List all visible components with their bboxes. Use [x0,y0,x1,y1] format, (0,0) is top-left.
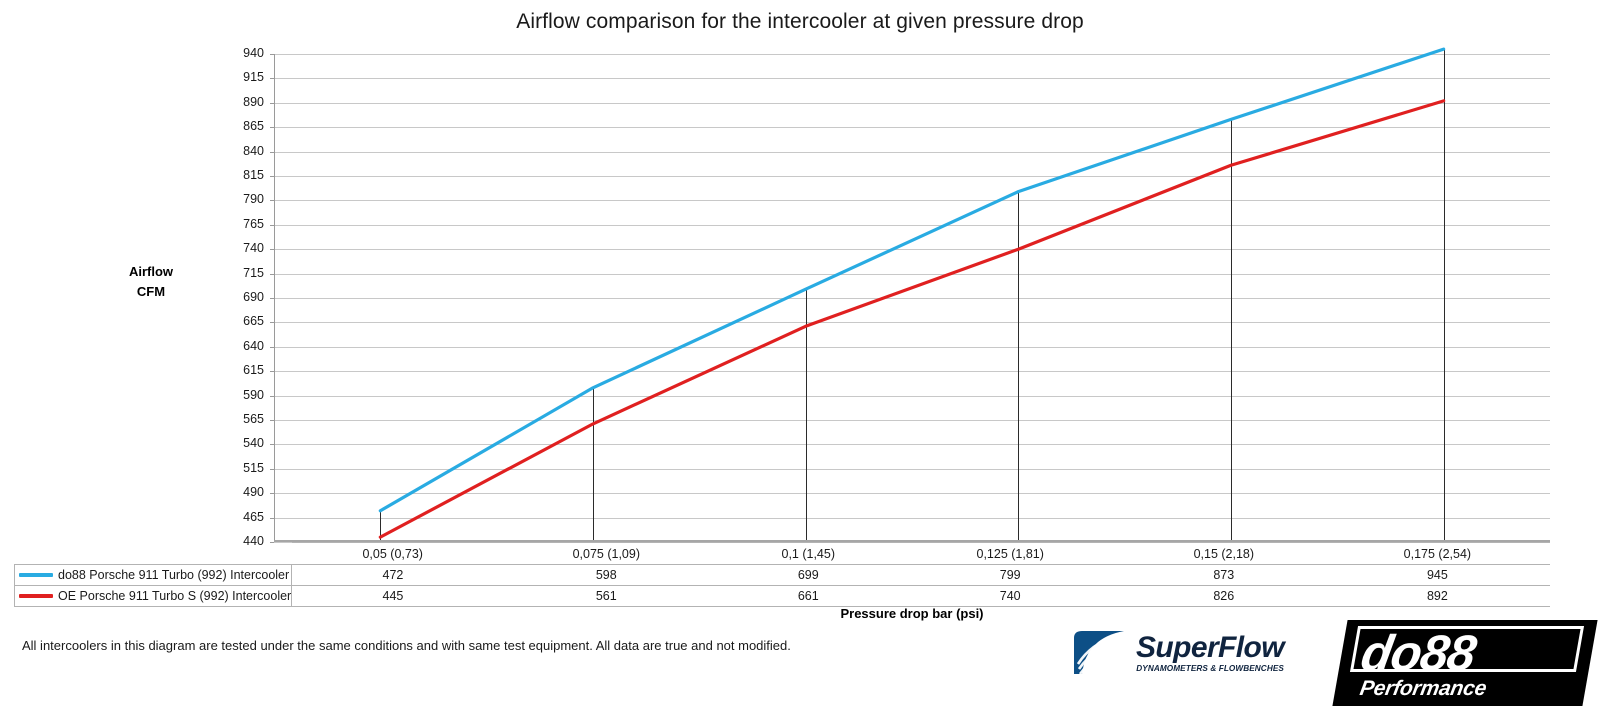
series-lines [274,54,1550,542]
table-cell-value: 445 [292,586,494,607]
table-cell-value: 561 [494,586,719,607]
chart-title: Airflow comparison for the intercooler a… [0,10,1600,34]
plot-inner [274,54,1550,542]
y-tick-label: 815 [216,168,264,182]
superflow-swoosh-icon [1068,628,1130,678]
x-category-label: 0,125 (1,81) [898,543,1123,565]
y-tick-label: 740 [216,241,264,255]
do88-tagline: Performance [1358,677,1488,701]
do88-wordmark: do88 [1357,624,1480,682]
y-tick-label: 640 [216,339,264,353]
y-tick-label: 715 [216,266,264,280]
footnote-text: All intercoolers in this diagram are tes… [22,638,791,653]
x-axis-title: Pressure drop bar (psi) [274,606,1550,621]
y-tick-label: 890 [216,95,264,109]
table-cell-value: 598 [494,565,719,586]
table-row: OE Porsche 911 Turbo S (992) Intercooler… [15,586,1551,607]
y-tick-label: 690 [216,290,264,304]
legend-color-swatch [19,573,53,577]
table-cell-value: 699 [719,565,898,586]
table-row: 0,05 (0,73)0,075 (1,09)0,1 (1,45)0,125 (… [15,543,1551,565]
x-category-label: 0,15 (2,18) [1123,543,1325,565]
x-category-label: 0,1 (1,45) [719,543,898,565]
y-tick-label: 915 [216,70,264,84]
table-cell-value: 945 [1325,565,1550,586]
legend-entry[interactable]: do88 Porsche 911 Turbo (992) Intercooler [15,565,292,586]
do88-logo: do88 Performance [1340,620,1590,706]
y-tick-label: 790 [216,192,264,206]
y-tick-label: 940 [216,46,264,60]
plot-area [274,54,1550,542]
y-tick-label: 590 [216,388,264,402]
superflow-wordmark: SuperFlow [1136,633,1284,663]
superflow-tagline: DYNAMOMETERS & FLOWBENCHES [1136,665,1284,673]
x-category-label: 0,05 (0,73) [292,543,494,565]
y-axis-title-line2: CFM [104,282,198,302]
y-tick-label: 465 [216,510,264,524]
y-tick-label: 665 [216,314,264,328]
table-cell-value: 799 [898,565,1123,586]
table-cell-value: 873 [1123,565,1325,586]
y-tick-label: 765 [216,217,264,231]
table-row: do88 Porsche 911 Turbo (992) Intercooler… [15,565,1551,586]
series-line [380,49,1443,511]
y-tick-label: 540 [216,436,264,450]
table-cell-value: 892 [1325,586,1550,607]
y-tick-label: 615 [216,363,264,377]
y-tick-label: 565 [216,412,264,426]
do88-logo-content: do88 Performance [1340,620,1590,706]
superflow-logo: SuperFlow DYNAMOMETERS & FLOWBENCHES [1068,625,1306,681]
table-cell-value: 826 [1123,586,1325,607]
table-corner-cell [15,543,292,565]
y-axis-title: Airflow CFM [104,262,198,302]
series-line [380,101,1443,537]
x-category-label: 0,075 (1,09) [494,543,719,565]
legend-label: do88 Porsche 911 Turbo (992) Intercooler [58,568,289,582]
legend-color-swatch [19,594,53,598]
data-table: 0,05 (0,73)0,075 (1,09)0,1 (1,45)0,125 (… [14,542,1550,607]
chart-page: Airflow comparison for the intercooler a… [0,0,1600,712]
table-cell-value: 740 [898,586,1123,607]
y-tick-label: 840 [216,144,264,158]
table-cell-value: 472 [292,565,494,586]
x-category-label: 0,175 (2,54) [1325,543,1550,565]
legend-label: OE Porsche 911 Turbo S (992) Intercooler [58,589,291,603]
y-tick-label: 490 [216,485,264,499]
y-tick-label: 865 [216,119,264,133]
legend-entry[interactable]: OE Porsche 911 Turbo S (992) Intercooler [15,586,292,607]
y-axis-title-line1: Airflow [104,262,198,282]
y-tick-label: 515 [216,461,264,475]
table-cell-value: 661 [719,586,898,607]
